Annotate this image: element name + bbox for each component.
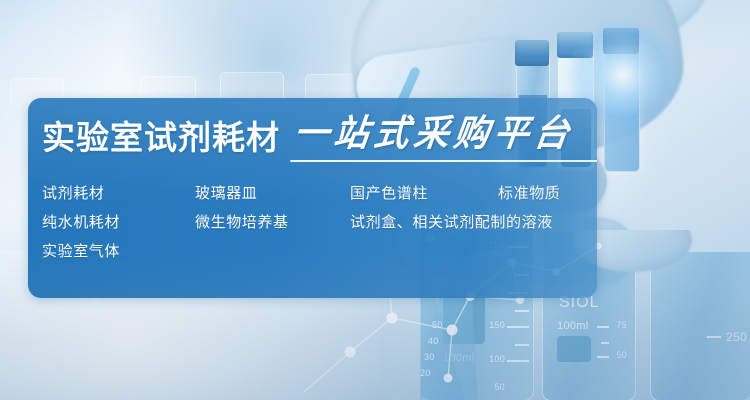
headline-primary: 实验室试剂耗材 (42, 121, 280, 154)
category-item-reagent-consumables[interactable]: 试剂耗材 (42, 182, 104, 203)
category-item-glassware[interactable]: 玻璃器皿 (195, 182, 257, 203)
bottom-shading (0, 250, 750, 400)
category-item-microbial-media[interactable]: 微生物培养基 (195, 211, 289, 232)
category-item-domestic-columns[interactable]: 国产色谱柱 (350, 182, 428, 203)
promo-banner: 250 APPROX 200 150 100 50 GG‑17 100ml 50… (0, 0, 750, 400)
category-item-water-purifier-consumables[interactable]: 纯水机耗材 (42, 211, 120, 232)
